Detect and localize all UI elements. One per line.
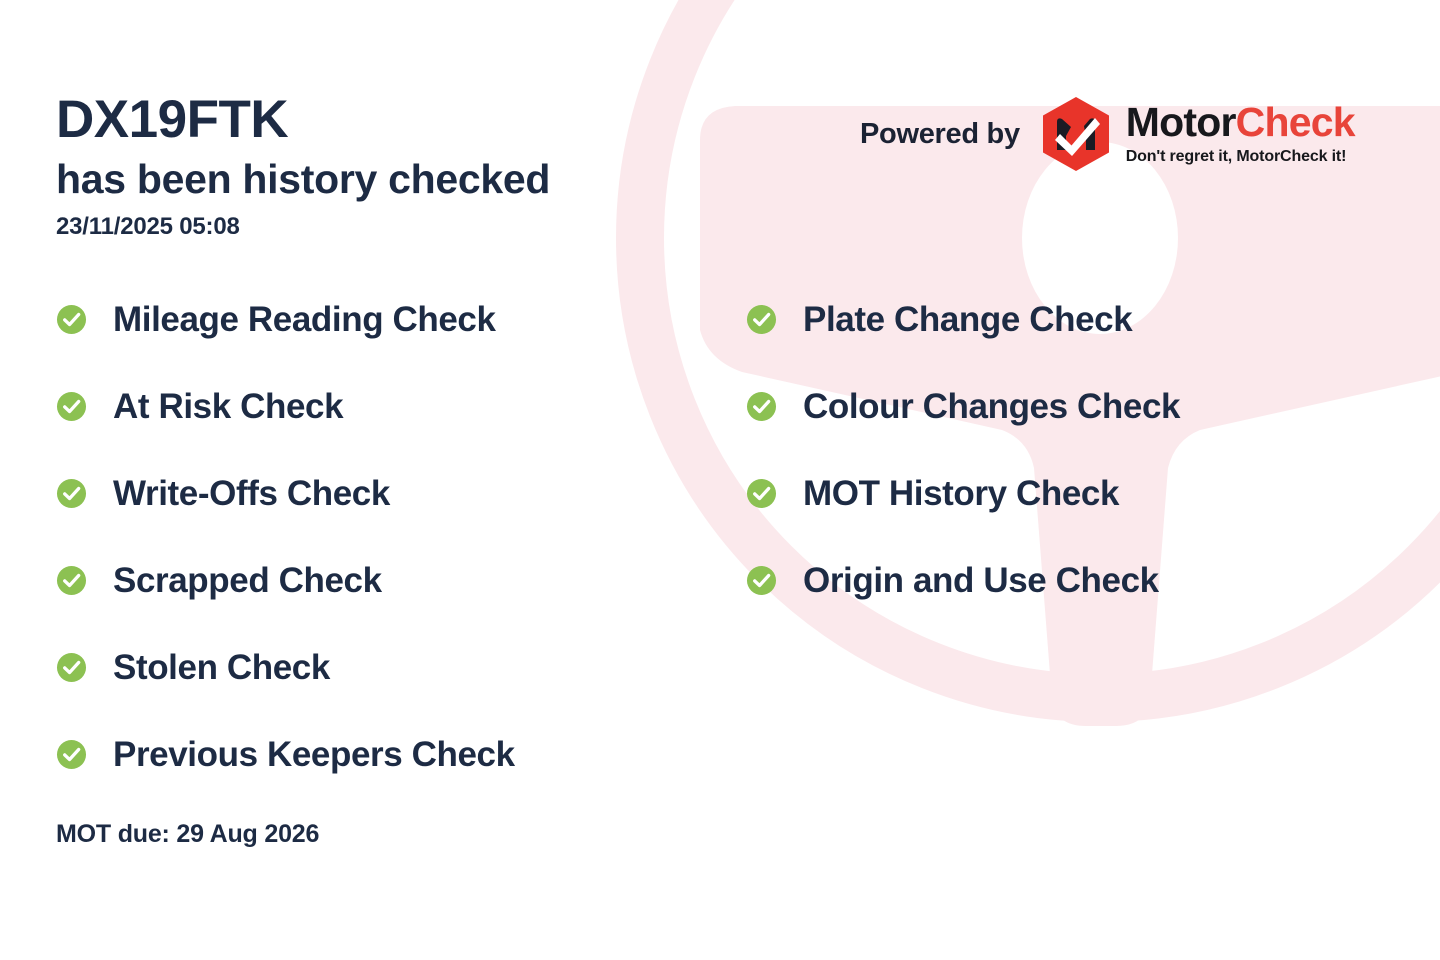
check-item-at-risk: At Risk Check bbox=[56, 379, 515, 433]
check-item-origin-and-use: Origin and Use Check bbox=[746, 553, 1180, 607]
check-label: Scrapped Check bbox=[113, 563, 382, 598]
check-item-plate-change: Plate Change Check bbox=[746, 292, 1180, 346]
check-list-right: Plate Change Check Colour Changes Check … bbox=[746, 292, 1180, 640]
brand-wordmark: MotorCheck bbox=[1126, 102, 1355, 143]
brand-tagline: Don't regret it, MotorCheck it! bbox=[1126, 148, 1355, 166]
check-item-mot-history: MOT History Check bbox=[746, 466, 1180, 520]
motorcheck-logo[interactable]: MotorCheck Don't regret it, MotorCheck i… bbox=[1040, 96, 1355, 172]
check-list-left: Mileage Reading Check At Risk Check Writ… bbox=[56, 292, 515, 814]
check-item-colour-changes: Colour Changes Check bbox=[746, 379, 1180, 433]
brand-text: MotorCheck Don't regret it, MotorCheck i… bbox=[1126, 102, 1355, 166]
powered-by-label: Powered by bbox=[860, 118, 1020, 151]
check-item-mileage-reading: Mileage Reading Check bbox=[56, 292, 515, 346]
check-label: Previous Keepers Check bbox=[113, 737, 515, 772]
check-item-stolen: Stolen Check bbox=[56, 640, 515, 694]
check-item-write-offs: Write-Offs Check bbox=[56, 466, 515, 520]
check-label: Plate Change Check bbox=[803, 302, 1132, 337]
green-check-circle-icon bbox=[746, 565, 777, 596]
green-check-circle-icon bbox=[56, 391, 87, 422]
check-label: MOT History Check bbox=[803, 476, 1119, 511]
check-label: At Risk Check bbox=[113, 389, 343, 424]
green-check-circle-icon bbox=[56, 304, 87, 335]
header-block: DX19FTK has been history checked 23/11/2… bbox=[56, 92, 550, 241]
green-check-circle-icon bbox=[746, 391, 777, 422]
check-label: Write-Offs Check bbox=[113, 476, 390, 511]
check-item-scrapped: Scrapped Check bbox=[56, 553, 515, 607]
green-check-circle-icon bbox=[56, 478, 87, 509]
mot-due-note: MOT due: 29 Aug 2026 bbox=[56, 820, 319, 849]
check-label: Stolen Check bbox=[113, 650, 330, 685]
check-item-previous-keepers: Previous Keepers Check bbox=[56, 727, 515, 781]
check-timestamp: 23/11/2025 05:08 bbox=[56, 213, 550, 241]
check-label: Colour Changes Check bbox=[803, 389, 1180, 424]
history-check-card: DX19FTK has been history checked 23/11/2… bbox=[0, 0, 1440, 960]
powered-by-brand-block: Powered by MotorCheck Don't regret it, M… bbox=[860, 96, 1355, 172]
motorcheck-hexagon-icon bbox=[1040, 96, 1112, 172]
brand-word-check: Check bbox=[1236, 99, 1355, 145]
green-check-circle-icon bbox=[746, 478, 777, 509]
brand-word-motor: Motor bbox=[1126, 99, 1236, 145]
green-check-circle-icon bbox=[56, 739, 87, 770]
green-check-circle-icon bbox=[746, 304, 777, 335]
page-title: has been history checked bbox=[56, 154, 550, 205]
green-check-circle-icon bbox=[56, 652, 87, 683]
check-label: Mileage Reading Check bbox=[113, 302, 496, 337]
registration-plate: DX19FTK bbox=[56, 92, 550, 148]
check-label: Origin and Use Check bbox=[803, 563, 1159, 598]
green-check-circle-icon bbox=[56, 565, 87, 596]
